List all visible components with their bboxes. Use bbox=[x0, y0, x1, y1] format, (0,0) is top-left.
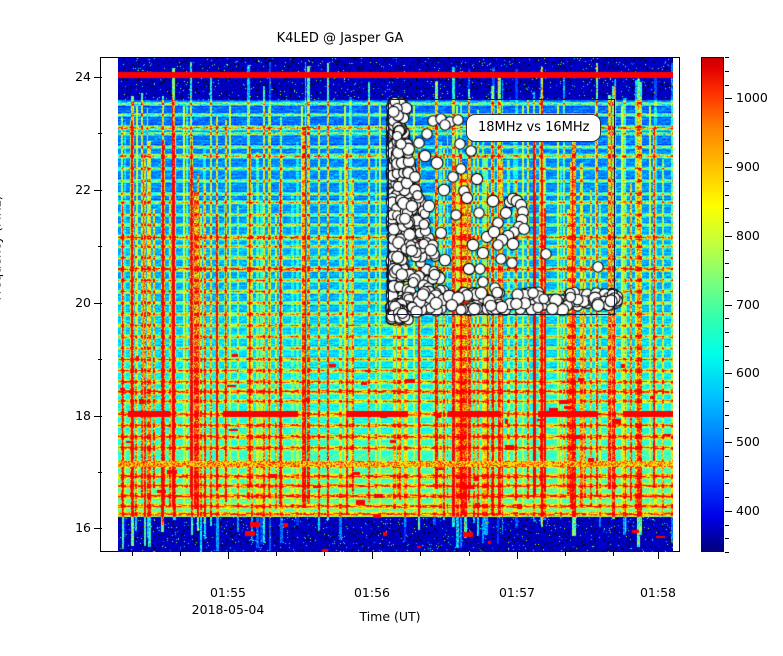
colorbar-tick bbox=[725, 442, 732, 443]
colorbar-tick bbox=[725, 511, 732, 512]
colorbar-minor-tick bbox=[725, 112, 729, 113]
colorbar-minor-tick bbox=[725, 387, 729, 388]
x-axis-tick-label: 01:58 bbox=[640, 585, 676, 600]
colorbar-minor-tick bbox=[725, 318, 729, 319]
x-axis-minor-tick bbox=[613, 552, 614, 556]
colorbar-minor-tick bbox=[725, 538, 729, 539]
y-axis-tick bbox=[94, 528, 102, 529]
colorbar-tick bbox=[725, 305, 732, 306]
y-axis-title: Frequency (MHz) bbox=[0, 195, 4, 300]
colorbar-minor-tick bbox=[725, 470, 729, 471]
colorbar-minor-tick bbox=[725, 332, 729, 333]
colorbar-minor-tick bbox=[725, 85, 729, 86]
y-axis-minor-tick bbox=[98, 472, 102, 473]
colorbar-minor-tick bbox=[725, 428, 729, 429]
x-axis-minor-tick bbox=[565, 552, 566, 556]
x-axis-tick-label: 01:56 bbox=[354, 585, 390, 600]
y-axis-tick bbox=[94, 77, 102, 78]
x-axis-tick-label: 01:57 bbox=[499, 585, 535, 600]
y-axis-tick bbox=[94, 416, 102, 417]
colorbar-minor-tick bbox=[725, 360, 729, 361]
colorbar-tick-label: 900 bbox=[736, 159, 760, 174]
x-axis-tick bbox=[228, 552, 229, 559]
x-axis-minor-tick bbox=[469, 552, 470, 556]
colorbar-tick-label: 800 bbox=[736, 228, 760, 243]
x-axis-minor-tick bbox=[132, 552, 133, 556]
chart-title: K4LED @ Jasper GA bbox=[0, 31, 680, 46]
colorbar-minor-tick bbox=[725, 208, 729, 209]
colorbar-tick-label: 600 bbox=[736, 365, 760, 380]
colorbar-minor-tick bbox=[725, 71, 729, 72]
y-axis-tick-label: 18 bbox=[75, 408, 91, 423]
colorbar-minor-tick bbox=[725, 195, 729, 196]
annotation-label: 18MHz vs 16MHz bbox=[466, 114, 601, 142]
colorbar-minor-tick bbox=[725, 222, 729, 223]
colorbar-minor-tick bbox=[725, 456, 729, 457]
colorbar-minor-tick bbox=[725, 153, 729, 154]
y-axis-tick bbox=[94, 303, 102, 304]
x-axis-date-label: 2018-05-04 bbox=[192, 602, 265, 617]
colorbar-tick bbox=[725, 167, 732, 168]
x-axis-tick bbox=[658, 552, 659, 559]
y-axis-minor-tick bbox=[98, 359, 102, 360]
colorbar-tick bbox=[725, 98, 732, 99]
colorbar-minor-tick bbox=[725, 277, 729, 278]
colorbar-minor-tick bbox=[725, 140, 729, 141]
x-axis-minor-tick bbox=[324, 552, 325, 556]
colorbar-minor-tick bbox=[725, 525, 729, 526]
y-axis-minor-tick bbox=[98, 246, 102, 247]
x-axis-minor-tick bbox=[180, 552, 181, 556]
colorbar-tick-label: 700 bbox=[736, 297, 760, 312]
colorbar-tick bbox=[725, 373, 732, 374]
colorbar-minor-tick bbox=[725, 552, 729, 553]
colorbar-minor-tick bbox=[725, 483, 729, 484]
colorbar bbox=[701, 57, 724, 552]
y-axis-tick-label: 22 bbox=[75, 182, 91, 197]
colorbar-minor-tick bbox=[725, 250, 729, 251]
x-axis-tick-label: 01:55 bbox=[210, 585, 246, 600]
colorbar-minor-tick bbox=[725, 346, 729, 347]
colorbar-minor-tick bbox=[725, 57, 729, 58]
colorbar-minor-tick bbox=[725, 291, 729, 292]
x-axis-title: Time (UT) bbox=[359, 609, 420, 624]
colorbar-tick-label: 400 bbox=[736, 503, 760, 518]
colorbar-minor-tick bbox=[725, 126, 729, 127]
colorbar-minor-tick bbox=[725, 401, 729, 402]
y-axis-tick-label: 16 bbox=[75, 520, 91, 535]
y-axis-tick-label: 20 bbox=[75, 295, 91, 310]
colorbar-minor-tick bbox=[725, 497, 729, 498]
y-axis-tick bbox=[94, 190, 102, 191]
x-axis-minor-tick bbox=[276, 552, 277, 556]
y-axis-minor-tick bbox=[98, 133, 102, 134]
colorbar-minor-tick bbox=[725, 415, 729, 416]
y-axis-tick-label: 24 bbox=[75, 69, 91, 84]
colorbar-tick-label: 1000 bbox=[736, 90, 768, 105]
colorbar-minor-tick bbox=[725, 181, 729, 182]
x-axis-tick bbox=[372, 552, 373, 559]
colorbar-minor-tick bbox=[725, 263, 729, 264]
x-axis-tick bbox=[517, 552, 518, 559]
x-axis-minor-tick bbox=[420, 552, 421, 556]
colorbar-tick bbox=[725, 236, 732, 237]
colorbar-tick-label: 500 bbox=[736, 434, 760, 449]
spectrogram-figure: K4LED @ Jasper GA 18MHz vs 16MHz Frequen… bbox=[0, 0, 783, 656]
